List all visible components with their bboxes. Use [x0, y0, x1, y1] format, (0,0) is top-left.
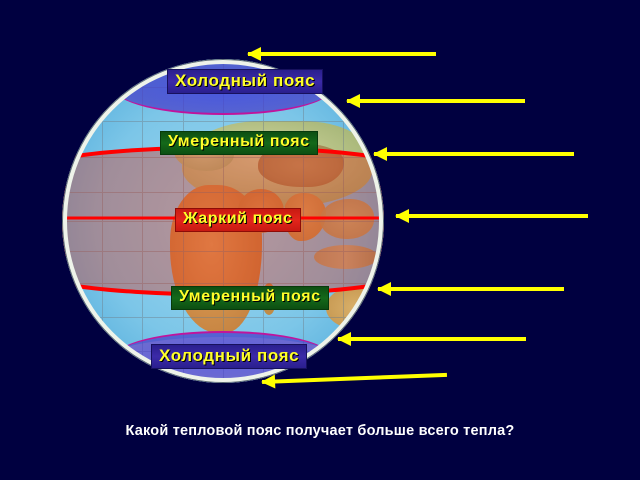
zone-label-hot: Жаркий пояс [175, 208, 301, 232]
zone-label-temperate-south: Умеренный пояс [171, 286, 329, 310]
arrow-shaft [248, 52, 436, 56]
arrow-shaft [347, 99, 525, 103]
arrow-shaft [378, 287, 564, 291]
arrow-shaft [338, 337, 526, 341]
question-caption: Какой тепловой пояс получает больше всег… [0, 423, 640, 439]
slide-canvas: Холодный пояс Умеренный пояс Жаркий пояс… [0, 0, 640, 480]
arrow-shaft [396, 214, 588, 218]
zone-label-cold-north: Холодный пояс [167, 69, 323, 94]
zone-label-temperate-north: Умеренный пояс [160, 131, 318, 155]
zone-label-cold-south: Холодный пояс [151, 344, 307, 369]
arrow-shaft [374, 152, 574, 156]
